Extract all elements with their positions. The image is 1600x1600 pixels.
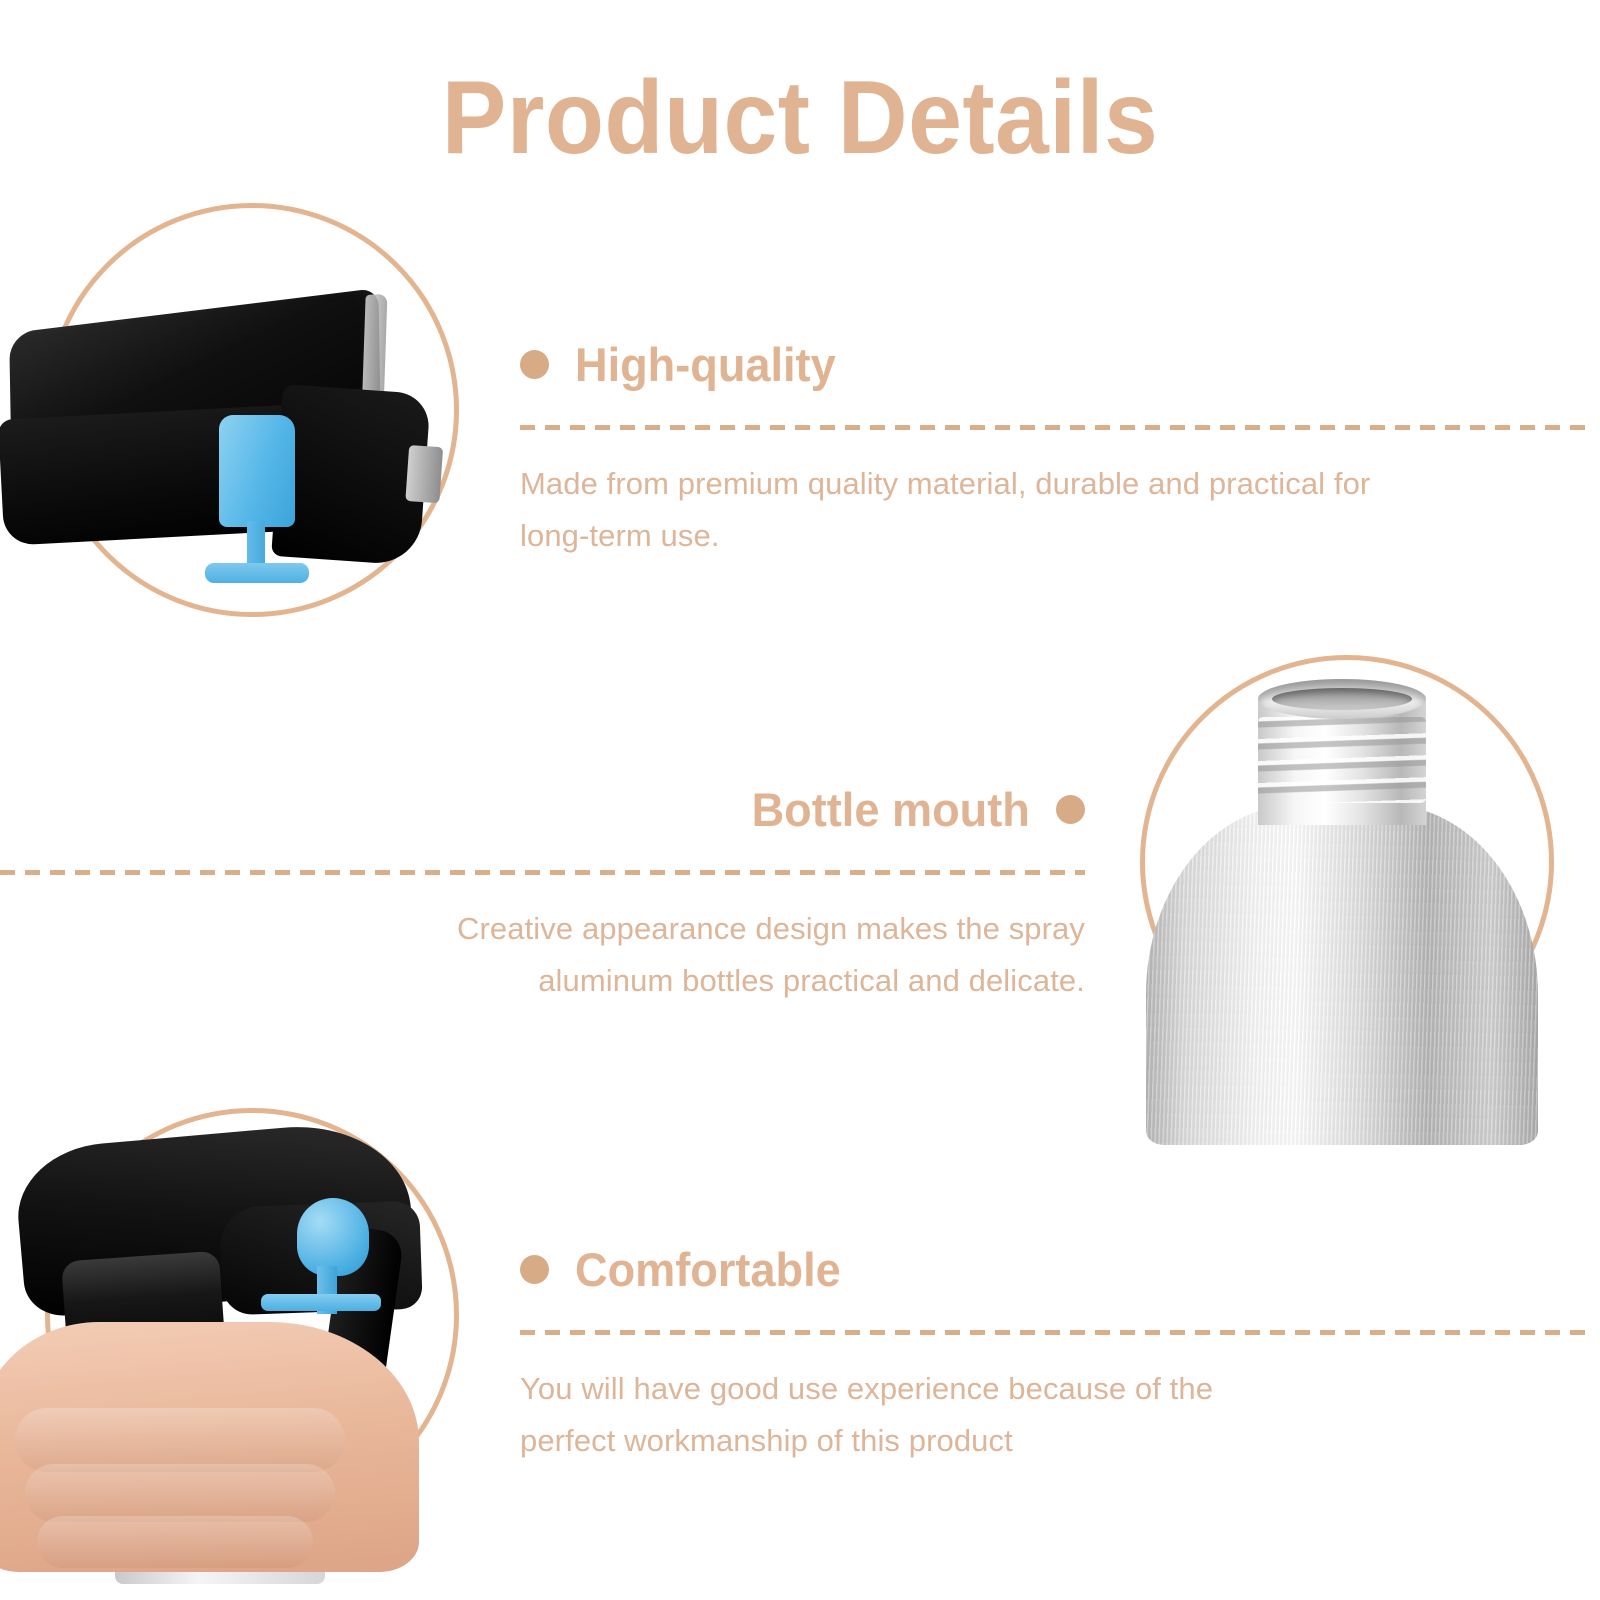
photo-clip-3 — [45, 1108, 459, 1522]
photo-clip-2 — [1140, 655, 1554, 1069]
finger-crease-2 — [25, 1464, 335, 1522]
section-heading: Bottle mouth — [752, 785, 1030, 834]
bottle-brushed-texture — [1146, 805, 1538, 1145]
product-photo-hand-holding-sprayer — [45, 1108, 459, 1522]
product-photo-bottle-mouth — [1140, 655, 1554, 1069]
page-title: Product Details — [56, 62, 1544, 174]
section-divider — [520, 425, 1590, 430]
section-body-text: Made from premium quality material, dura… — [520, 458, 1420, 562]
photo-inner-2 — [1140, 655, 1554, 1069]
finger-crease-3 — [37, 1516, 313, 1568]
section-heading: High-quality — [575, 340, 836, 389]
section-body-text: Creative appearance design makes the spr… — [425, 903, 1085, 1007]
bottle-mouth-rim — [1258, 679, 1426, 719]
blue-nozzle-lock — [219, 415, 295, 527]
photo-clip-1 — [45, 203, 459, 617]
photo-inner-1 — [45, 203, 459, 617]
heading-row-comfortable: Comfortable — [520, 1245, 1590, 1294]
section-bottle-mouth: Bottle mouth Creative appearance design … — [0, 785, 1085, 1008]
section-divider — [520, 1330, 1590, 1335]
heading-row-high-quality: High-quality — [520, 340, 1590, 389]
blue-nozzle-foot — [205, 563, 309, 583]
section-divider — [0, 870, 1085, 875]
photo-inner-3 — [45, 1108, 459, 1522]
section-comfortable: Comfortable You will have good use exper… — [520, 1245, 1590, 1468]
product-photo-spray-trigger-head — [45, 203, 459, 617]
product-details-page: Product Details High-quality Made from p… — [0, 0, 1600, 1600]
blue-nozzle-stem — [247, 521, 265, 569]
bottle-screw-threads — [1258, 717, 1426, 803]
bullet-dot-icon — [520, 350, 549, 379]
section-heading: Comfortable — [575, 1245, 841, 1294]
blue-nozzle-lock — [297, 1198, 369, 1276]
heading-row-bottle-mouth: Bottle mouth — [0, 785, 1085, 834]
finger-crease-1 — [15, 1408, 345, 1472]
section-high-quality: High-quality Made from premium quality m… — [520, 340, 1590, 563]
trigger-nozzle-housing — [271, 384, 431, 566]
section-body-text: You will have good use experience becaus… — [520, 1363, 1280, 1467]
bullet-dot-icon — [520, 1255, 549, 1284]
bullet-dot-icon — [1056, 795, 1085, 824]
blue-nozzle-tab — [261, 1294, 381, 1311]
